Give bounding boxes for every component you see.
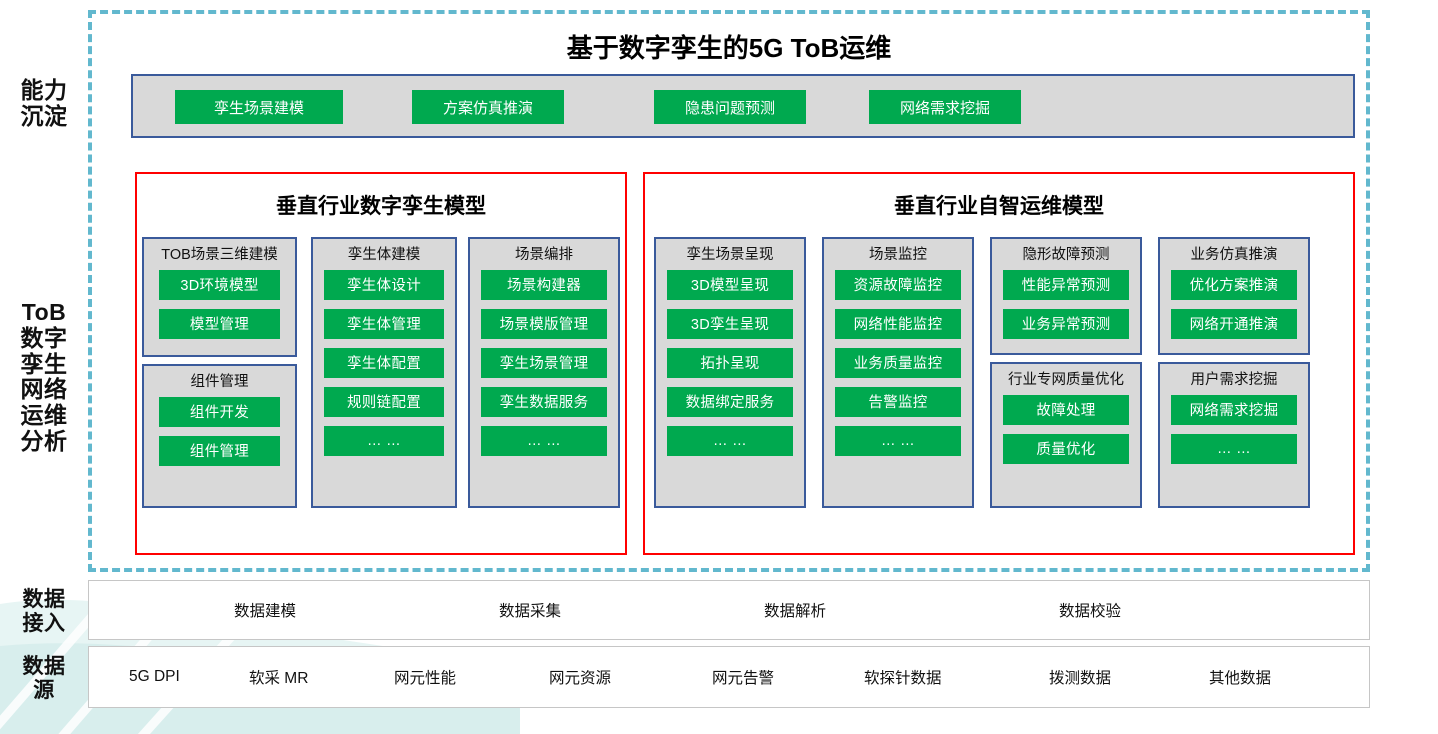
chip-item[interactable]: 组件管理 [159, 436, 280, 466]
column-component-management: 组件管理 组件开发 组件管理 [142, 364, 297, 508]
data-source-item[interactable]: 网元性能 [394, 666, 456, 688]
chip-item[interactable]: 场景构建器 [481, 270, 607, 300]
data-source-item[interactable]: 软采 MR [249, 666, 308, 688]
data-source-item[interactable]: 拨测数据 [1049, 666, 1111, 688]
column-tob-3d-modeling: TOB场景三维建模 3D环境模型 模型管理 [142, 237, 297, 357]
chip-item[interactable]: 3D孪生呈现 [667, 309, 793, 339]
chip-item[interactable]: 告警监控 [835, 387, 961, 417]
column-title: 业务仿真推演 [1160, 239, 1308, 270]
chip-item[interactable]: 故障处理 [1003, 395, 1129, 425]
chip-item[interactable]: 数据绑定服务 [667, 387, 793, 417]
data-access-item[interactable]: 数据建模 [234, 599, 296, 621]
chip-item[interactable]: 3D模型呈现 [667, 270, 793, 300]
capability-chip[interactable]: 网络需求挖掘 [869, 90, 1021, 124]
rail-label-data-source: 数据源 [0, 655, 88, 702]
column-twin-entity-modeling: 孪生体建模 孪生体设计 孪生体管理 孪生体配置 规则链配置 … … [311, 237, 457, 508]
chip-item[interactable]: 孪生体管理 [324, 309, 444, 339]
chip-item[interactable]: 组件开发 [159, 397, 280, 427]
chip-item[interactable]: 孪生数据服务 [481, 387, 607, 417]
chip-item[interactable]: 业务异常预测 [1003, 309, 1129, 339]
column-scene-orchestration: 场景编排 场景构建器 场景模版管理 孪生场景管理 孪生数据服务 … … [468, 237, 620, 508]
data-source-item[interactable]: 其他数据 [1209, 666, 1271, 688]
chip-item[interactable]: 性能异常预测 [1003, 270, 1129, 300]
chip-item[interactable]: 拓扑呈现 [667, 348, 793, 378]
rail-label-data-access: 数据接入 [0, 588, 88, 635]
chip-item[interactable]: 资源故障监控 [835, 270, 961, 300]
column-title: 场景监控 [824, 239, 972, 270]
chip-item[interactable]: 孪生场景管理 [481, 348, 607, 378]
column-scene-monitoring: 场景监控 资源故障监控 网络性能监控 业务质量监控 告警监控 … … [822, 237, 974, 508]
data-access-item[interactable]: 数据校验 [1059, 599, 1121, 621]
data-access-item[interactable]: 数据解析 [764, 599, 826, 621]
chip-item[interactable]: 模型管理 [159, 309, 280, 339]
data-source-item[interactable]: 网元告警 [712, 666, 774, 688]
chip-item[interactable]: … … [324, 426, 444, 456]
column-twin-scene-presentation: 孪生场景呈现 3D模型呈现 3D孪生呈现 拓扑呈现 数据绑定服务 … … [654, 237, 806, 508]
data-access-item[interactable]: 数据采集 [499, 599, 561, 621]
data-source-item[interactable]: 网元资源 [549, 666, 611, 688]
chip-item[interactable]: 孪生体设计 [324, 270, 444, 300]
chip-item[interactable]: 网络开通推演 [1171, 309, 1297, 339]
ops-model-panel: 垂直行业自智运维模型 孪生场景呈现 3D模型呈现 3D孪生呈现 拓扑呈现 数据绑… [643, 172, 1355, 555]
column-user-demand-mining: 用户需求挖掘 网络需求挖掘 … … [1158, 362, 1310, 508]
chip-item[interactable]: 质量优化 [1003, 434, 1129, 464]
chip-item[interactable]: 场景模版管理 [481, 309, 607, 339]
rail-label-tob: ToB数字孪生网络运维分析 [0, 300, 88, 455]
chip-item[interactable]: 业务质量监控 [835, 348, 961, 378]
column-title: 用户需求挖掘 [1160, 364, 1308, 395]
chip-item[interactable]: … … [667, 426, 793, 456]
chip-item[interactable]: 规则链配置 [324, 387, 444, 417]
chip-item[interactable]: 3D环境模型 [159, 270, 280, 300]
rail-label-ability: 能力沉淀 [0, 78, 88, 130]
chip-item[interactable]: … … [481, 426, 607, 456]
chip-item[interactable]: 网络需求挖掘 [1171, 395, 1297, 425]
twin-model-panel: 垂直行业数字孪生模型 TOB场景三维建模 3D环境模型 模型管理 组件管理 组件… [135, 172, 627, 555]
slide-root: 能力沉淀 ToB数字孪生网络运维分析 数据接入 数据源 基于数字孪生的5G To… [0, 0, 1438, 734]
page-title: 基于数字孪生的5G ToB运维 [88, 28, 1370, 65]
chip-item[interactable]: 优化方案推演 [1171, 270, 1297, 300]
chip-item[interactable]: … … [835, 426, 961, 456]
data-source-bar: 5G DPI 软采 MR 网元性能 网元资源 网元告警 软探针数据 拨测数据 其… [88, 646, 1370, 708]
column-business-simulation: 业务仿真推演 优化方案推演 网络开通推演 [1158, 237, 1310, 355]
twin-model-panel-title: 垂直行业数字孪生模型 [137, 190, 625, 220]
column-title: 场景编排 [470, 239, 618, 270]
column-title: TOB场景三维建模 [144, 239, 295, 270]
column-title: 孪生场景呈现 [656, 239, 804, 270]
capability-chip[interactable]: 方案仿真推演 [412, 90, 564, 124]
column-title: 组件管理 [144, 366, 295, 397]
capability-bar: 孪生场景建模 方案仿真推演 隐患问题预测 网络需求挖掘 [131, 74, 1355, 138]
column-hidden-fault-prediction: 隐形故障预测 性能异常预测 业务异常预测 [990, 237, 1142, 355]
chip-item[interactable]: 网络性能监控 [835, 309, 961, 339]
column-title: 孪生体建模 [313, 239, 455, 270]
column-private-network-quality-optimization: 行业专网质量优化 故障处理 质量优化 [990, 362, 1142, 508]
capability-chip[interactable]: 孪生场景建模 [175, 90, 343, 124]
data-access-bar: 数据建模 数据采集 数据解析 数据校验 [88, 580, 1370, 640]
data-source-item[interactable]: 5G DPI [129, 668, 180, 686]
column-title: 隐形故障预测 [992, 239, 1140, 270]
data-source-item[interactable]: 软探针数据 [864, 666, 942, 688]
chip-item[interactable]: … … [1171, 434, 1297, 464]
column-title: 行业专网质量优化 [992, 364, 1140, 395]
capability-chip[interactable]: 隐患问题预测 [654, 90, 806, 124]
chip-item[interactable]: 孪生体配置 [324, 348, 444, 378]
ops-model-panel-title: 垂直行业自智运维模型 [645, 190, 1353, 220]
